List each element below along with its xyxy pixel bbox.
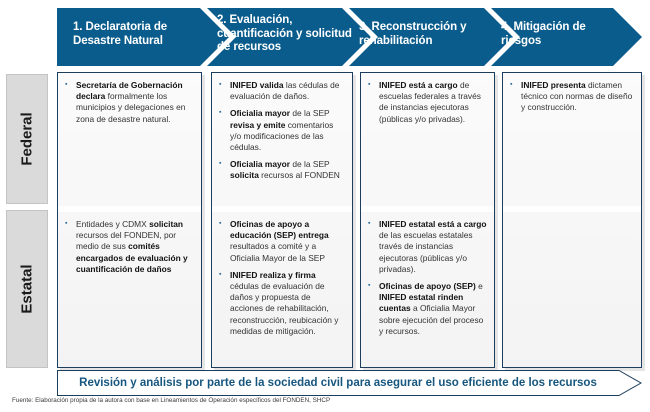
phase-column-1: Secretaría de Gobernación declara formal… [57, 72, 202, 368]
row-label-federal: Federal [6, 74, 48, 204]
bullet-list: INIFED valida las cédulas de evaluación … [218, 80, 345, 182]
bullet-item: INIFED estatal está a cargo de las escue… [367, 219, 487, 275]
bullet-list: Secretaría de Gobernación declara formal… [64, 80, 194, 125]
row-label-federal-text: Federal [19, 112, 36, 165]
phase-label-3: 3. Reconstrucción y rehabilitación [359, 21, 489, 48]
source-note: Fuente: Elaboración propia de la autora … [12, 397, 330, 404]
bullet-list: INIFED presenta dictamen técnico con nor… [509, 80, 634, 114]
process-diagram: 1. Declaratoria de Desastre Natural 2. E… [0, 0, 650, 412]
bullet-list: INIFED estatal está a cargo de las escue… [367, 219, 487, 337]
bullet-item: INIFED está a cargo de escuelas federale… [367, 80, 487, 125]
cell-federal-4: INIFED presenta dictamen técnico con nor… [503, 73, 641, 206]
cell-estatal-3: INIFED estatal está a cargo de las escue… [361, 212, 494, 369]
bullet-list: Entidades y CDMX solicitan recursos del … [64, 219, 194, 275]
bullet-item: Oficialia mayor de la SEP solicita recur… [218, 159, 345, 181]
bullet-item: Secretaría de Gobernación declara formal… [64, 80, 194, 125]
phase-column-3: INIFED está a cargo de escuelas federale… [360, 72, 495, 368]
phase-label-1: 1. Declaratoria de Desastre Natural [73, 21, 203, 48]
phase-column-4: INIFED presenta dictamen técnico con nor… [502, 72, 642, 368]
row-label-estatal: Estatal [6, 210, 48, 368]
row-label-estatal-text: Estatal [19, 264, 36, 313]
phase-label-2: 2. Evaluación, cuantificación y solicitu… [217, 14, 352, 55]
cell-estatal-2: Oficinas de apoyo a educación (SEP) entr… [212, 212, 352, 369]
bullet-item: INIFED realiza y firma cédulas de evalua… [218, 270, 345, 337]
phase-label-4: 4. Mitigación de riesgos [501, 21, 626, 48]
society-review-banner: Revisión y análisis por parte de la soci… [57, 370, 642, 396]
bullet-item: INIFED presenta dictamen técnico con nor… [509, 80, 634, 114]
bullet-item: INIFED valida las cédulas de evaluación … [218, 80, 345, 102]
bullet-item: Oficinas de apoyo (SEP) e INIFED estatal… [367, 281, 487, 337]
bullet-item: Oficialia mayor de la SEP revisa y emite… [218, 108, 345, 153]
bullet-item: Oficinas de apoyo a educación (SEP) entr… [218, 219, 345, 264]
cell-federal-1: Secretaría de Gobernación declara formal… [58, 73, 201, 206]
bullet-item: Entidades y CDMX solicitan recursos del … [64, 219, 194, 275]
phase-header-bar: 1. Declaratoria de Desastre Natural 2. E… [57, 8, 642, 66]
cell-federal-2: INIFED valida las cédulas de evaluación … [212, 73, 352, 206]
cell-estatal-4 [503, 212, 641, 369]
phase-column-2: INIFED valida las cédulas de evaluación … [211, 72, 353, 368]
bullet-list: Oficinas de apoyo a educación (SEP) entr… [218, 219, 345, 337]
bullet-list: INIFED está a cargo de escuelas federale… [367, 80, 487, 125]
cell-federal-3: INIFED está a cargo de escuelas federale… [361, 73, 494, 206]
cell-estatal-1: Entidades y CDMX solicitan recursos del … [58, 212, 201, 369]
banner-text: Revisión y análisis por parte de la soci… [57, 370, 619, 396]
